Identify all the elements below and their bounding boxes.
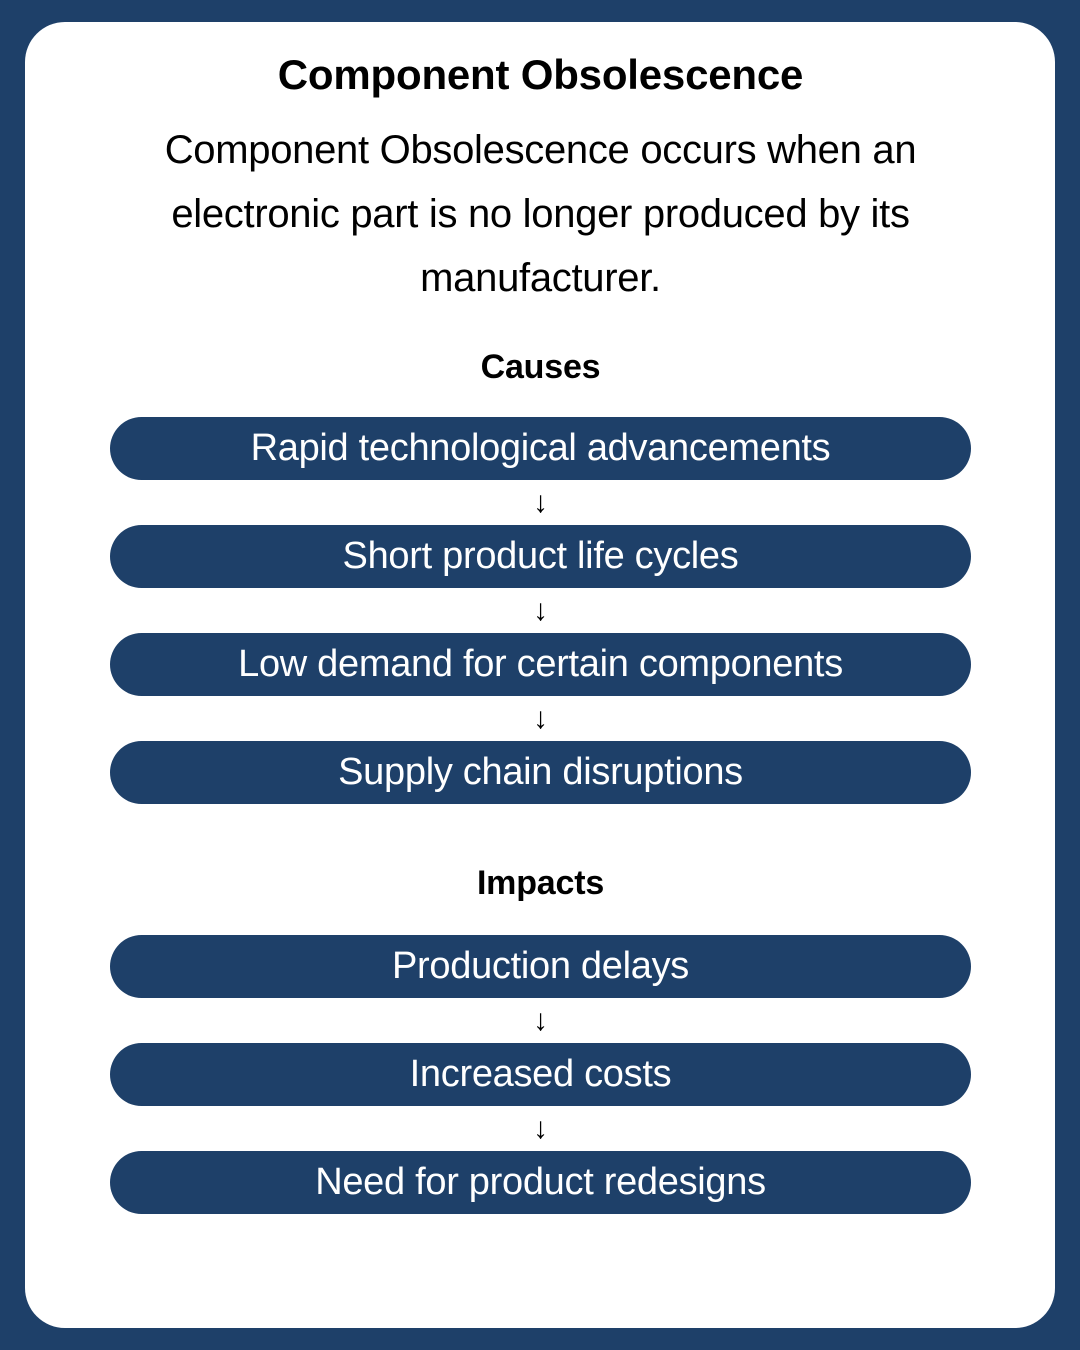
down-arrow-icon: ↓ <box>110 588 971 633</box>
card-inner: Component Obsolescence Component Obsoles… <box>110 22 971 1214</box>
flow-node: Need for product redesigns <box>110 1151 971 1214</box>
impacts-flow-list: Production delays ↓ Increased costs ↓ Ne… <box>110 904 971 1214</box>
flow-node: Short product life cycles <box>110 525 971 588</box>
down-arrow-icon: ↓ <box>110 998 971 1043</box>
section-heading-impacts: Impacts <box>110 804 971 904</box>
flow-node: Production delays <box>110 935 971 998</box>
causes-flow-list: Rapid technological advancements ↓ Short… <box>110 388 971 804</box>
flow-node: Low demand for certain components <box>110 633 971 696</box>
definition-text: Component Obsolescence occurs when an el… <box>110 101 971 310</box>
section-heading-causes: Causes <box>110 310 971 388</box>
poster-frame: Component Obsolescence Component Obsoles… <box>0 0 1080 1350</box>
flow-node: Rapid technological advancements <box>110 417 971 480</box>
down-arrow-icon: ↓ <box>110 1106 971 1151</box>
down-arrow-icon: ↓ <box>110 696 971 741</box>
flow-node: Supply chain disruptions <box>110 741 971 804</box>
flow-node: Increased costs <box>110 1043 971 1106</box>
content-card: Component Obsolescence Component Obsoles… <box>25 22 1055 1328</box>
page-title: Component Obsolescence <box>110 22 971 101</box>
down-arrow-icon: ↓ <box>110 480 971 525</box>
